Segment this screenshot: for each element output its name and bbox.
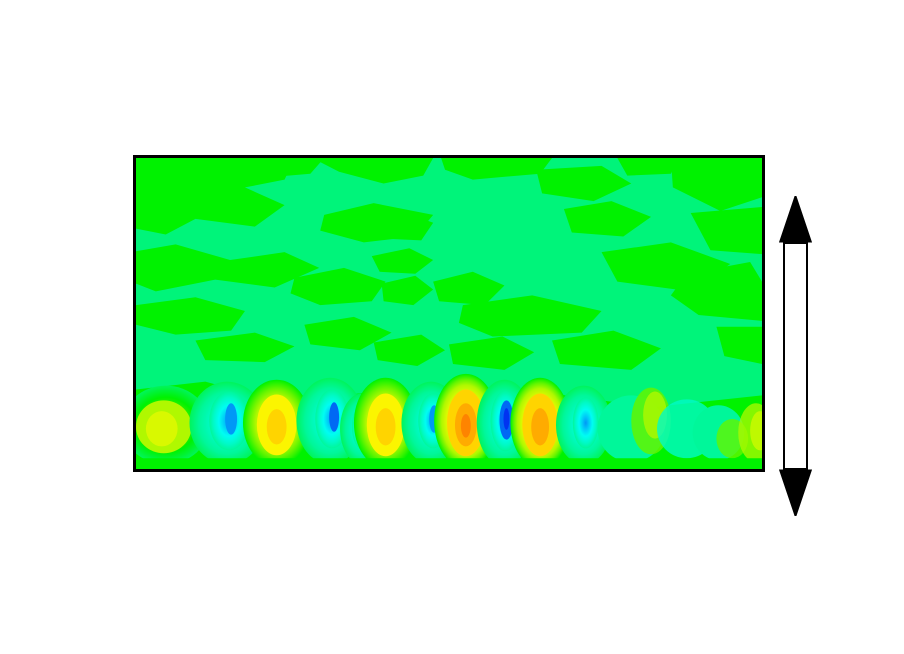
vertical-velocity-field [136,158,762,469]
colorbar-over-arrow [779,196,812,243]
colorbar-bands [783,242,808,470]
colorbar[interactable] [778,196,898,516]
contour-plot-area[interactable] [133,155,765,472]
colorbar-under-arrow [779,469,812,516]
